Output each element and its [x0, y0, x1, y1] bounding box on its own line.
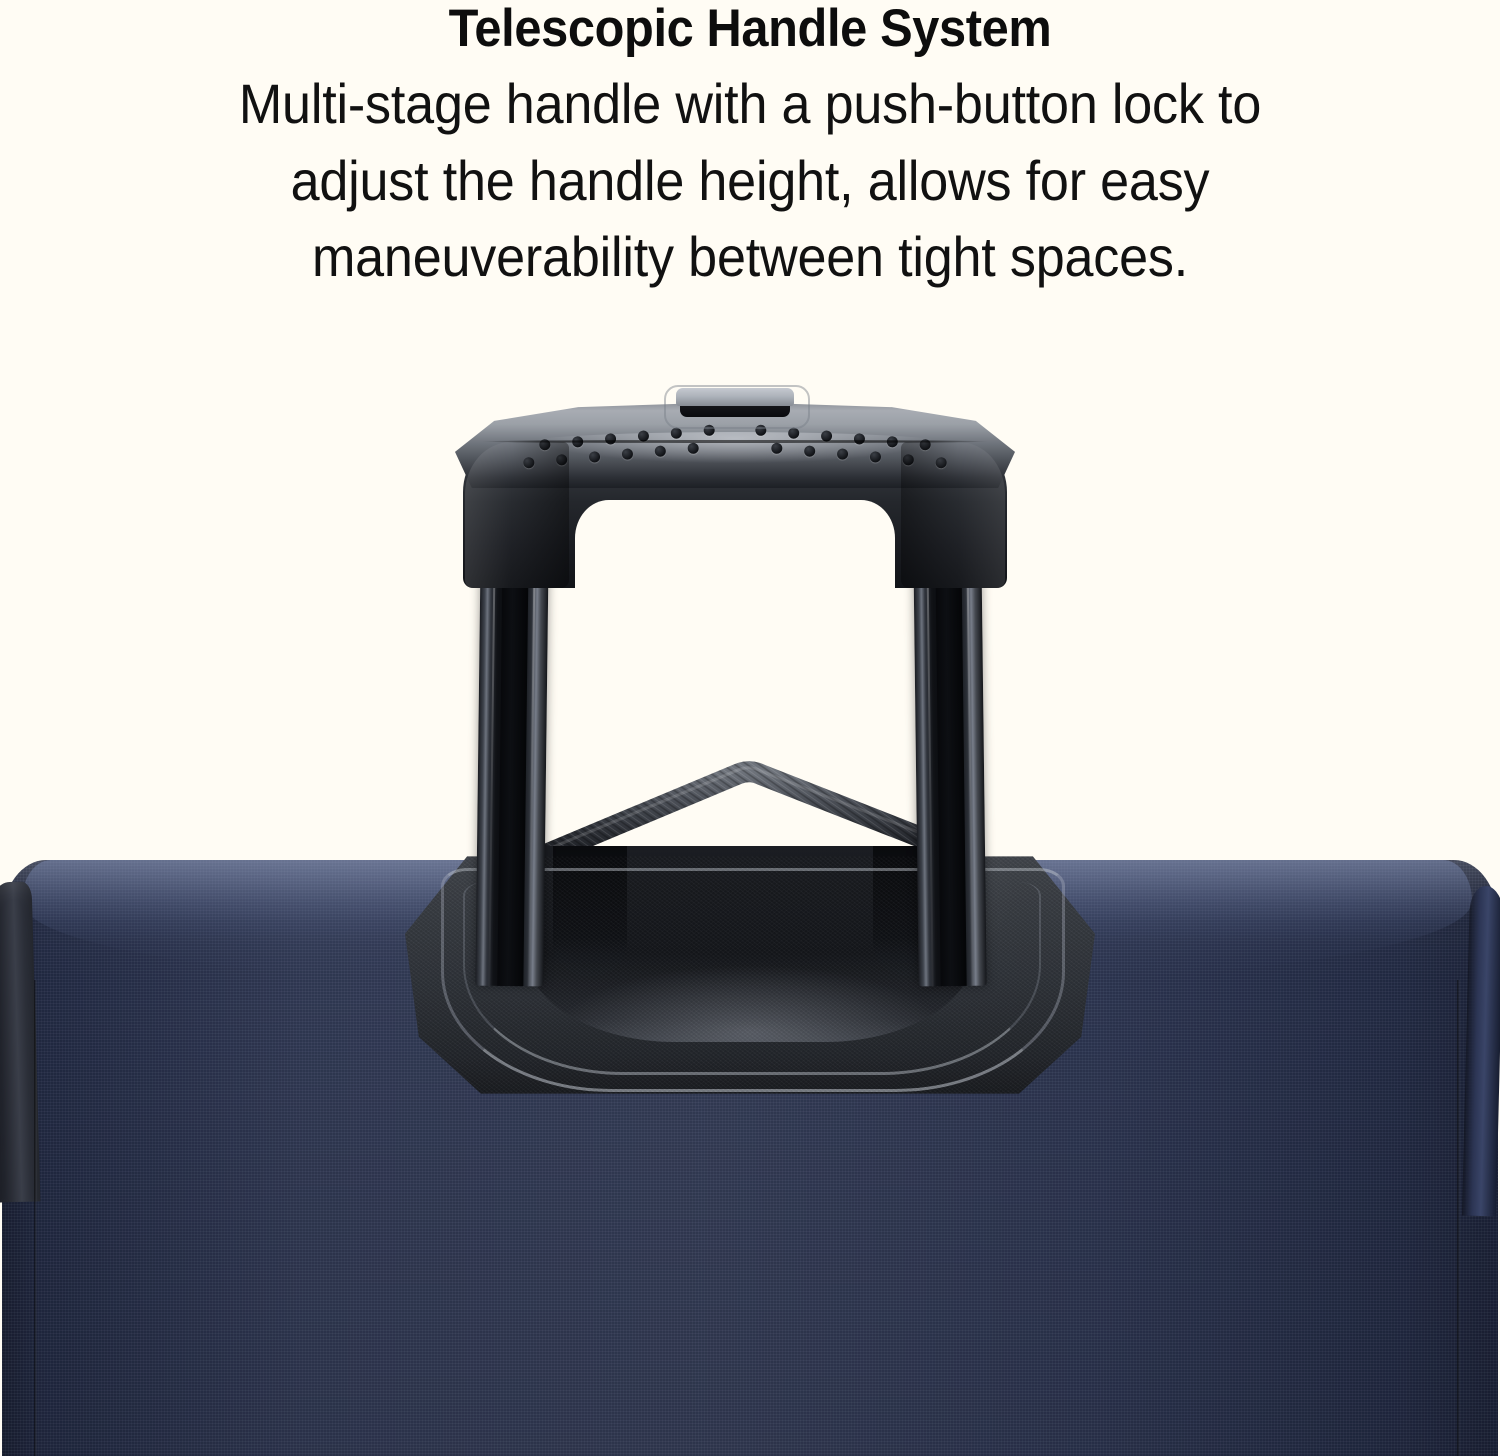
push-button-lock[interactable]	[676, 388, 794, 418]
feature-description: Multi-stage handle with a push-button lo…	[53, 56, 1448, 296]
seam-line-right	[1457, 980, 1460, 1456]
telescoping-tube-right[interactable]	[913, 548, 986, 987]
page-title: Telescopic Handle System	[60, 0, 1440, 56]
product-feature-image: Telescopic Handle System Multi-stage han…	[0, 0, 1500, 1456]
tube-slot-left	[553, 846, 627, 976]
grip-parting-line	[481, 440, 989, 443]
description-line-1: Multi-stage handle with a push-button lo…	[53, 66, 1448, 143]
push-button-face[interactable]	[676, 388, 794, 406]
tube-groove-left-1	[488, 548, 495, 986]
handle-opening	[575, 500, 895, 610]
seam-line-left	[34, 980, 37, 1456]
caption-block: Telescopic Handle System Multi-stage han…	[0, 0, 1500, 296]
tube-core-left	[497, 548, 528, 986]
tube-groove-left-2	[528, 548, 535, 986]
description-line-3: maneuverability between tight spaces.	[53, 219, 1448, 296]
tube-groove-right-2	[966, 548, 973, 986]
tube-core-right	[935, 548, 966, 986]
tube-groove-right-1	[926, 548, 933, 986]
telescopic-handle[interactable]	[455, 382, 1015, 582]
description-line-2: adjust the handle height, allows for eas…	[53, 143, 1448, 220]
telescoping-tube-left[interactable]	[475, 548, 548, 987]
